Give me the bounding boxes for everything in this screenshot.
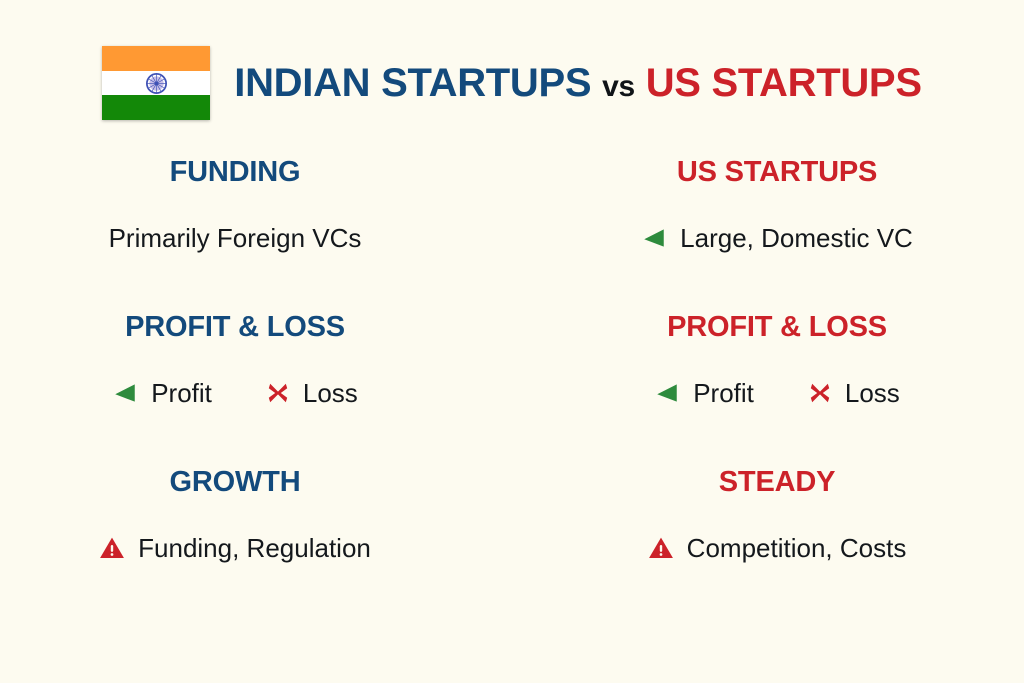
section-body: Primarily Foreign VCs bbox=[109, 225, 362, 251]
section-heading: GROWTH bbox=[170, 468, 301, 497]
item-label: Primarily Foreign VCs bbox=[109, 225, 362, 251]
warning-triangle-icon bbox=[648, 535, 674, 561]
column-indian: PROFIT & LOSS Profit bbox=[0, 313, 512, 406]
comparison-row: PROFIT & LOSS Profit bbox=[0, 313, 1024, 406]
list-item: Large, Domestic VC bbox=[641, 225, 913, 251]
title-vs: vs bbox=[602, 70, 635, 103]
section-heading: FUNDING bbox=[170, 158, 301, 187]
green-triangle-icon bbox=[654, 380, 680, 406]
comparison-row: FUNDING Primarily Foreign VCs US STARTUP… bbox=[0, 158, 1024, 251]
section-heading: PROFIT & LOSS bbox=[667, 313, 887, 342]
column-us: STEADY Competition, Costs bbox=[512, 468, 1024, 561]
column-indian: GROWTH Funding, Regulation bbox=[0, 468, 512, 561]
page-title: INDIAN STARTUPS vs US STARTUPS bbox=[234, 63, 921, 103]
comparison-row: GROWTH Funding, Regulation bbox=[0, 468, 1024, 561]
list-item: Loss bbox=[266, 380, 358, 406]
flag-band-saffron bbox=[102, 46, 210, 71]
item-label: Profit bbox=[151, 380, 212, 406]
india-flag-icon bbox=[102, 46, 210, 120]
title-us-startups: US STARTUPS bbox=[646, 61, 922, 105]
comparison-grid: FUNDING Primarily Foreign VCs US STARTUP… bbox=[0, 158, 1024, 561]
section-heading: US STARTUPS bbox=[677, 158, 877, 187]
ashoka-chakra-icon bbox=[146, 73, 167, 94]
section-heading: PROFIT & LOSS bbox=[125, 313, 345, 342]
list-item: Funding, Regulation bbox=[99, 535, 371, 561]
green-triangle-icon bbox=[112, 380, 138, 406]
header: INDIAN STARTUPS vs US STARTUPS bbox=[0, 46, 1024, 120]
red-x-icon bbox=[808, 381, 832, 405]
item-label: Large, Domestic VC bbox=[680, 225, 913, 251]
section-body: Competition, Costs bbox=[648, 535, 907, 561]
section-body: Profit Loss bbox=[654, 380, 900, 406]
item-label: Profit bbox=[693, 380, 754, 406]
list-item: Loss bbox=[808, 380, 900, 406]
column-indian: FUNDING Primarily Foreign VCs bbox=[0, 158, 512, 251]
section-body: Large, Domestic VC bbox=[641, 225, 913, 251]
item-label: Loss bbox=[303, 380, 358, 406]
item-label: Loss bbox=[845, 380, 900, 406]
warning-triangle-icon bbox=[99, 535, 125, 561]
section-heading: STEADY bbox=[719, 468, 835, 497]
column-us: US STARTUPS Large, Domestic VC bbox=[512, 158, 1024, 251]
red-x-icon bbox=[266, 381, 290, 405]
list-item: Primarily Foreign VCs bbox=[109, 225, 362, 251]
infographic-page: INDIAN STARTUPS vs US STARTUPS FUNDING P… bbox=[0, 0, 1024, 683]
flag-band-green bbox=[102, 95, 210, 120]
green-triangle-icon bbox=[641, 225, 667, 251]
column-us: PROFIT & LOSS Profit bbox=[512, 313, 1024, 406]
item-label: Funding, Regulation bbox=[138, 535, 371, 561]
list-item: Profit bbox=[654, 380, 754, 406]
list-item: Competition, Costs bbox=[648, 535, 907, 561]
section-body: Profit Loss bbox=[112, 380, 358, 406]
item-label: Competition, Costs bbox=[687, 535, 907, 561]
section-body: Funding, Regulation bbox=[99, 535, 371, 561]
list-item: Profit bbox=[112, 380, 212, 406]
title-indian-startups: INDIAN STARTUPS bbox=[234, 61, 591, 105]
